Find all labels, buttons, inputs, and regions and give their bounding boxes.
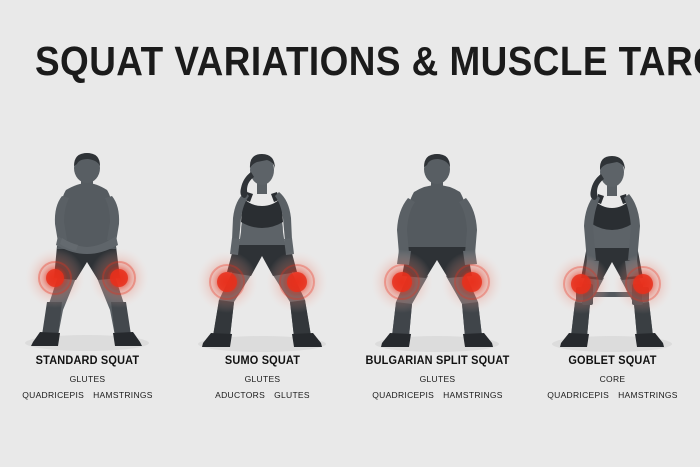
primary-muscle: CORE xyxy=(525,374,700,384)
torso xyxy=(406,185,468,247)
sports-bra xyxy=(592,200,632,230)
exercise-column-goblet-squat[interactable] xyxy=(525,150,700,365)
secondary-muscles: QUADRICEPISHAMSTRINGS xyxy=(0,390,175,400)
exercise-name: STANDARD SQUAT xyxy=(4,355,170,367)
primary-muscle: GLUTES xyxy=(350,374,525,384)
secondary-muscles: QUADRICEPISHAMSTRINGS xyxy=(350,390,525,400)
secondary-muscle-2: HAMSTRINGS xyxy=(443,390,503,400)
secondary-muscle-1: QUADRICEPIS xyxy=(372,390,434,400)
secondary-muscle-1: QUADRICEPIS xyxy=(22,390,84,400)
secondary-muscle-2: GLUTES xyxy=(274,390,310,400)
primary-muscle: GLUTES xyxy=(0,374,175,384)
exercise-name: GOBLET SQUAT xyxy=(529,355,695,367)
exercise-name: SUMO SQUAT xyxy=(179,355,345,367)
figure-illustration-sumo-squat xyxy=(175,150,350,365)
exercise-column-standard-squat[interactable] xyxy=(0,150,175,365)
exercise-column-sumo-squat[interactable] xyxy=(175,150,350,365)
secondary-muscle-1: QUADRICEPIS xyxy=(547,390,609,400)
figure-illustration-standard-squat xyxy=(0,150,175,365)
exercise-column-bulgarian-split-squat[interactable] xyxy=(350,150,525,365)
figure-illustration-goblet-squat xyxy=(525,150,700,365)
primary-muscle: GLUTES xyxy=(175,374,350,384)
figure-illustration-bulgarian-split-squat xyxy=(350,150,525,365)
caption-sumo-squat: SUMO SQUAT GLUTES ADUCTORSGLUTES xyxy=(175,355,350,415)
exercise-name: BULGARIAN SPLIT SQUAT xyxy=(354,355,520,367)
infographic-poster: SQUAT VARIATIONS & MUSCLE TARGETS xyxy=(0,0,700,467)
secondary-muscle-2: HAMSTRINGS xyxy=(93,390,153,400)
caption-goblet-squat: GOBLET SQUAT CORE QUADRICEPISHAMSTRINGS xyxy=(525,355,700,415)
page-title: SQUAT VARIATIONS & MUSCLE TARGETS xyxy=(35,38,665,85)
caption-standard-squat: STANDARD SQUAT GLUTES QUADRICEPISHAMSTRI… xyxy=(0,355,175,415)
secondary-muscle-2: HAMSTRINGS xyxy=(618,390,678,400)
caption-bulgarian-split-squat: BULGARIAN SPLIT SQUAT GLUTES QUADRICEPIS… xyxy=(350,355,525,415)
secondary-muscles: QUADRICEPISHAMSTRINGS xyxy=(525,390,700,400)
secondary-muscles: ADUCTORSGLUTES xyxy=(175,390,350,400)
caption-row: STANDARD SQUAT GLUTES QUADRICEPISHAMSTRI… xyxy=(0,355,700,415)
sports-bra xyxy=(241,198,283,228)
figure-row xyxy=(0,150,700,365)
secondary-muscle-1: ADUCTORS xyxy=(215,390,265,400)
